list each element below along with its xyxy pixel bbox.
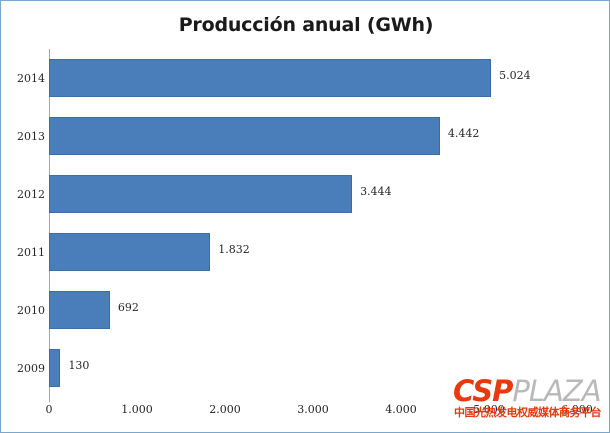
bar-2013[interactable] xyxy=(49,117,440,155)
bar-value-label-2009: 130 xyxy=(68,359,89,372)
bar-value-label-2012: 3.444 xyxy=(360,185,392,198)
x-tick-label-5000: 5.000 xyxy=(459,403,519,416)
bar-row: 1.832 xyxy=(49,223,577,281)
y-tick-label-2013: 2013 xyxy=(3,130,45,143)
bar-value-label-2011: 1.832 xyxy=(218,243,250,256)
x-tick-label-1000: 1.000 xyxy=(107,403,167,416)
bar-value-label-2010: 692 xyxy=(118,301,139,314)
bar-row: 692 xyxy=(49,281,577,339)
bar-row: 3.444 xyxy=(49,165,577,223)
x-tick-label-4000: 4.000 xyxy=(371,403,431,416)
bar-row: 5.024 xyxy=(49,49,577,107)
bar-value-label-2013: 4.442 xyxy=(448,127,480,140)
chart-container: Producción anual (GWh) 5.0244.4423.4441.… xyxy=(0,0,610,433)
bar-2009[interactable] xyxy=(49,349,60,387)
x-axis-origin-tick xyxy=(49,397,50,402)
y-tick-label-2012: 2012 xyxy=(3,188,45,201)
y-tick-label-2011: 2011 xyxy=(3,246,45,259)
x-tick-label-2000: 2.000 xyxy=(195,403,255,416)
chart-title: Producción anual (GWh) xyxy=(1,14,610,36)
bar-2010[interactable] xyxy=(49,291,110,329)
bar-2011[interactable] xyxy=(49,233,210,271)
bar-value-label-2014: 5.024 xyxy=(499,69,531,82)
y-tick-label-2010: 2010 xyxy=(3,304,45,317)
x-tick-label-3000: 3.000 xyxy=(283,403,343,416)
y-tick-label-2014: 2014 xyxy=(3,72,45,85)
bar-row: 4.442 xyxy=(49,107,577,165)
x-tick-label-0: 0 xyxy=(19,403,79,416)
bar-2012[interactable] xyxy=(49,175,352,213)
bar-2014[interactable] xyxy=(49,59,491,97)
y-tick-label-2009: 2009 xyxy=(3,362,45,375)
bar-row: 130 xyxy=(49,339,577,397)
x-tick-label-6000: 6.000 xyxy=(547,403,607,416)
